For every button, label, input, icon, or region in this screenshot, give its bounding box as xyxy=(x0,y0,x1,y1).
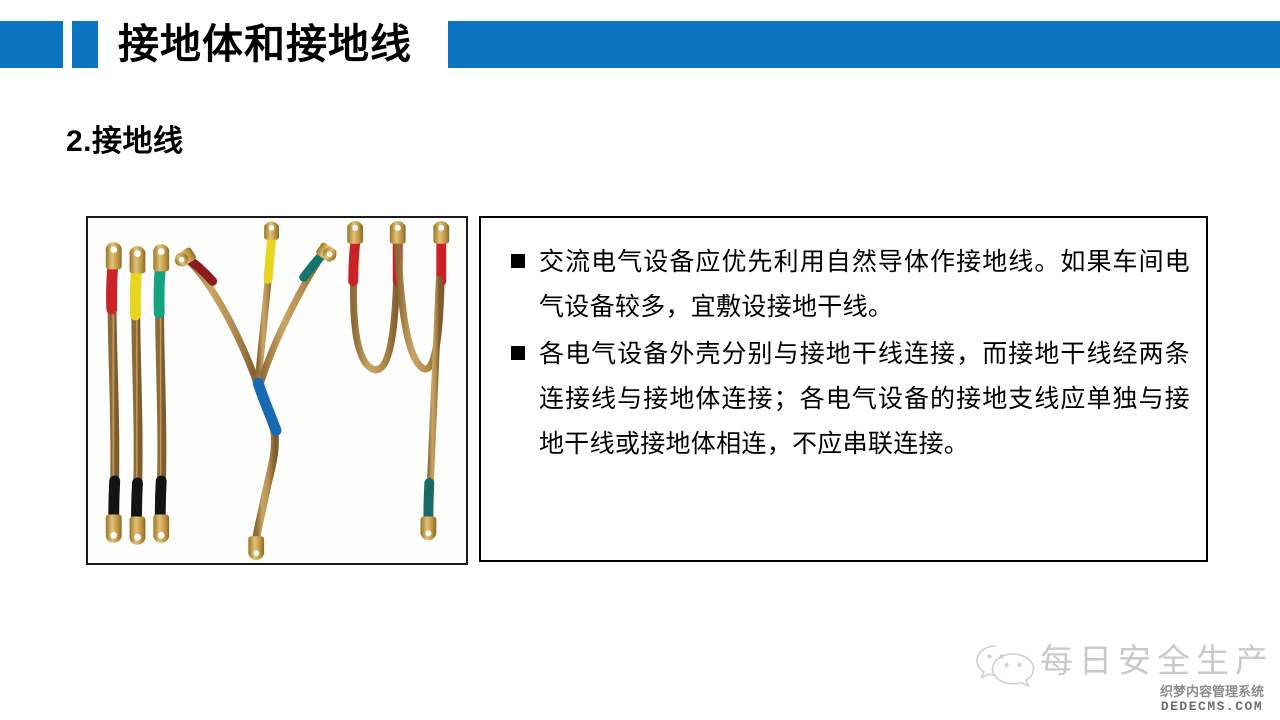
dedecms-stamp: 织梦内容管理系统 DEDECMS.COM xyxy=(1152,684,1272,714)
content-text-panel: 交流电气设备应优先利用自然导体作接地线。如果车间电气设备较多，宜敷设接地干线。 … xyxy=(479,216,1208,562)
dedecms-stamp-cn: 织梦内容管理系统 xyxy=(1152,684,1272,699)
dedecms-stamp-en: DEDECMS.COM xyxy=(1152,699,1272,714)
header-accent-block-narrow xyxy=(72,21,98,68)
page-title: 接地体和接地线 xyxy=(118,14,412,74)
watermark-account-name: 每日安全生产 xyxy=(1040,638,1274,684)
grounding-wire-illustration xyxy=(88,218,466,563)
bullet-text: 交流电气设备应优先利用自然导体作接地线。如果车间电气设备较多，宜敷设接地干线。 xyxy=(539,240,1190,330)
wechat-icon xyxy=(975,640,1037,690)
bullet-text: 各电气设备外壳分别与接地干线连接，而接地干线经两条连接线与接地体连接；各电气设备… xyxy=(539,332,1190,467)
slide-header: 接地体和接地线 xyxy=(0,0,1280,95)
bullet-item: 各电气设备外壳分别与接地干线连接，而接地干线经两条连接线与接地体连接；各电气设备… xyxy=(511,332,1190,467)
watermark: 每日安全生产 织梦内容管理系统 DEDECMS.COM xyxy=(970,636,1270,716)
square-bullet-icon xyxy=(511,346,525,360)
grounding-wire-photo-panel xyxy=(86,216,468,565)
header-accent-bar-right xyxy=(448,21,1280,68)
section-subtitle: 2.接地线 xyxy=(66,116,184,160)
bullet-item: 交流电气设备应优先利用自然导体作接地线。如果车间电气设备较多，宜敷设接地干线。 xyxy=(511,240,1190,330)
square-bullet-icon xyxy=(511,254,525,268)
header-accent-block-wide xyxy=(0,21,63,68)
